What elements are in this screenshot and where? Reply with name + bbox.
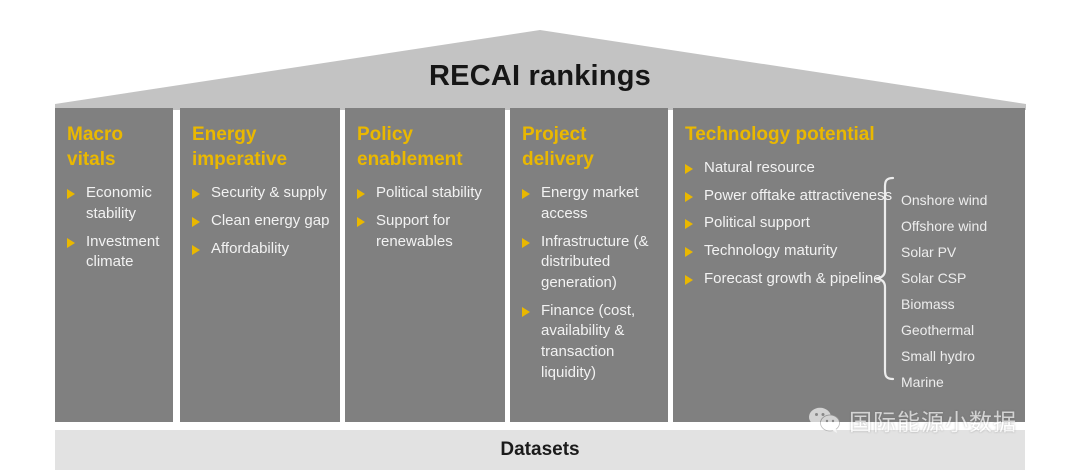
- list-item: Investment climate: [67, 232, 163, 273]
- pillar-bullet-list: Energy market access Infrastructure (& d…: [522, 183, 658, 383]
- pillar-technology-potential[interactable]: Technology potential Natural resource Po…: [673, 108, 1025, 422]
- list-item: Onshore wind: [901, 193, 1021, 207]
- triangle-bullet-icon: [685, 192, 693, 202]
- triangle-bullet-icon: [522, 307, 530, 317]
- bullet-label: Forecast growth & pipeline: [704, 270, 882, 287]
- bullet-label: Political stability: [376, 184, 482, 201]
- pillar-policy-enablement[interactable]: Policy enablement Political stability Su…: [345, 108, 505, 422]
- pillar-bullet-list: Economic stability Investment climate: [67, 183, 163, 273]
- triangle-bullet-icon: [357, 189, 365, 199]
- list-item: Support for renewables: [357, 211, 495, 252]
- bullet-label: Energy market access: [541, 184, 639, 222]
- technology-list: Onshore wind Offshore wind Solar PV Sola…: [901, 193, 1021, 401]
- triangle-bullet-icon: [685, 275, 693, 285]
- list-item: Infrastructure (& distributed generation…: [522, 232, 658, 294]
- bullet-label: Infrastructure (& distributed generation…: [541, 233, 649, 291]
- pillar-title: Macro vitals: [67, 122, 163, 172]
- bullet-label: Technology maturity: [704, 242, 837, 259]
- pillar-macro-vitals[interactable]: Macro vitals Economic stability Investme…: [55, 108, 173, 422]
- pillar-project-delivery[interactable]: Project delivery Energy market access In…: [510, 108, 668, 422]
- list-item: Clean energy gap: [192, 211, 330, 232]
- list-item: Geothermal: [901, 323, 1021, 337]
- list-item: Economic stability: [67, 183, 163, 224]
- list-item: Solar CSP: [901, 271, 1021, 285]
- pillar-title: Energy imperative: [192, 122, 330, 172]
- datasets-label: Datasets: [500, 439, 579, 461]
- list-item: Energy market access: [522, 183, 658, 224]
- bullet-label: Affordability: [211, 240, 289, 257]
- triangle-bullet-icon: [192, 189, 200, 199]
- triangle-bullet-icon: [67, 238, 75, 248]
- pillar-title: Project delivery: [522, 122, 658, 172]
- page-title: RECAI rankings: [0, 62, 1080, 91]
- bullet-label: Power offtake attractiveness: [704, 187, 892, 204]
- triangle-bullet-icon: [192, 245, 200, 255]
- pillar-bullet-list: Security & supply Clean energy gap Affor…: [192, 183, 330, 259]
- wechat-icon: [808, 406, 842, 434]
- technology-bracket-icon: [873, 176, 895, 381]
- triangle-bullet-icon: [522, 189, 530, 199]
- roof-shape: [0, 0, 1080, 112]
- triangle-bullet-icon: [522, 238, 530, 248]
- watermark-text: 国际能源小数据: [849, 403, 1017, 437]
- triangle-bullet-icon: [685, 247, 693, 257]
- watermark: 国际能源小数据: [808, 400, 1017, 440]
- pillars-row: Macro vitals Economic stability Investme…: [55, 108, 1025, 422]
- recai-framework-diagram: RECAI rankings Macro vitals Economic sta…: [0, 0, 1080, 475]
- list-item: Political stability: [357, 183, 495, 204]
- triangle-bullet-icon: [685, 164, 693, 174]
- pillar-energy-imperative[interactable]: Energy imperative Security & supply Clea…: [180, 108, 340, 422]
- bullet-label: Finance (cost, availability & transactio…: [541, 302, 635, 381]
- list-item: Small hydro: [901, 349, 1021, 363]
- bullet-label: Political support: [704, 214, 810, 231]
- bullet-label: Investment climate: [86, 233, 159, 271]
- bullet-label: Economic stability: [86, 184, 152, 222]
- triangle-bullet-icon: [685, 219, 693, 229]
- bullet-label: Security & supply: [211, 184, 327, 201]
- pillar-title: Technology potential: [685, 122, 1015, 147]
- triangle-bullet-icon: [357, 217, 365, 227]
- list-item: Solar PV: [901, 245, 1021, 259]
- list-item: Natural resource: [685, 158, 1015, 179]
- roof-pediment: RECAI rankings: [0, 0, 1080, 112]
- bullet-label: Natural resource: [704, 159, 815, 176]
- list-item: Affordability: [192, 239, 330, 260]
- bullet-label: Support for renewables: [376, 212, 453, 250]
- bullet-label: Clean energy gap: [211, 212, 329, 229]
- list-item: Marine: [901, 375, 1021, 389]
- list-item: Offshore wind: [901, 219, 1021, 233]
- triangle-bullet-icon: [192, 217, 200, 227]
- list-item: Biomass: [901, 297, 1021, 311]
- pillar-title: Policy enablement: [357, 122, 495, 172]
- triangle-bullet-icon: [67, 189, 75, 199]
- list-item: Finance (cost, availability & transactio…: [522, 301, 658, 384]
- pillar-bullet-list: Political stability Support for renewabl…: [357, 183, 495, 252]
- list-item: Security & supply: [192, 183, 330, 204]
